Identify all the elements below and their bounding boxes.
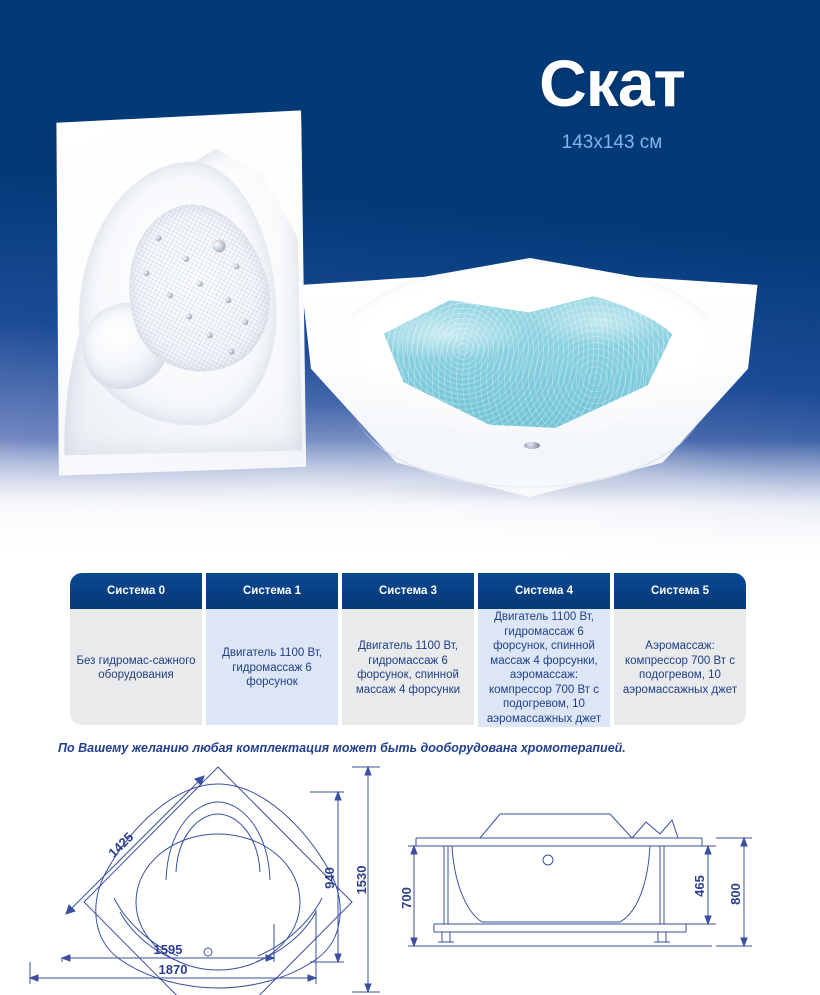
system-header-1: Система 1 [206,573,338,609]
system-header-3: Система 3 [342,573,474,609]
control-knob-icon [212,239,227,254]
systems-row: Система 0 Без гидромас-сажного оборудова… [70,573,746,727]
plan-dim-inner-width: 1595 [154,942,183,957]
system-description-1: Двигатель 1100 Вт, гидромассаж 6 форсуно… [206,609,338,725]
elevation-dim-inner-height: 465 [692,875,707,897]
systems-table: Система 0 Без гидромас-сажного оборудова… [70,573,746,727]
product-size: 143x143 см [452,132,772,154]
system-header-0: Система 0 [70,573,202,609]
drawings-svg: 1870 1595 1530 [0,762,820,995]
plan-dim-height-outer: 1530 [354,866,369,895]
system-description-3: Двигатель 1100 Вт, гидромассаж 6 форсуно… [342,609,474,725]
system-column-5[interactable]: Система 5 Аэромассаж: компрессор 700 Вт … [614,573,746,725]
chromotherapy-note: По Вашему желанию любая комплектация мож… [58,741,778,755]
elevation-view-drawing: 700 465 800 [399,814,752,946]
plan-view-drawing: 1870 1595 1530 [30,767,380,995]
system-description-4: Двигатель 1100 Вт, гидромассаж 6 форсуно… [478,609,610,727]
title-block: Скат 143x143 см [452,50,772,154]
plan-dim-height-inner: 940 [322,867,337,889]
hero-section: Скат 143x143 см [0,0,820,560]
system-header-5: Система 5 [614,573,746,609]
system-header-4: Система 4 [478,573,610,609]
plan-dim-outer-width: 1870 [159,962,188,977]
hero-fade [0,440,820,560]
system-description-5: Аэромассаж: компрессор 700 Вт с подогрев… [614,609,746,725]
elevation-dim-outer-height: 800 [728,883,743,905]
system-column-0[interactable]: Система 0 Без гидромас-сажного оборудова… [70,573,202,725]
elevation-dim-left-height: 700 [399,887,414,909]
product-title: Скат [452,50,772,116]
system-column-4[interactable]: Система 4 Двигатель 1100 Вт, гидромассаж… [478,573,610,727]
system-column-3[interactable]: Система 3 Двигатель 1100 Вт, гидромассаж… [342,573,474,725]
system-description-0: Без гидромас-сажного оборудования [70,609,202,725]
product-sheet: Скат 143x143 см Система 0 Без гидромас-с… [0,0,820,995]
bathtub-top-view-image [51,110,308,475]
technical-drawings: 1870 1595 1530 [0,762,820,995]
system-column-1[interactable]: Система 1 Двигатель 1100 Вт, гидромассаж… [206,573,338,725]
